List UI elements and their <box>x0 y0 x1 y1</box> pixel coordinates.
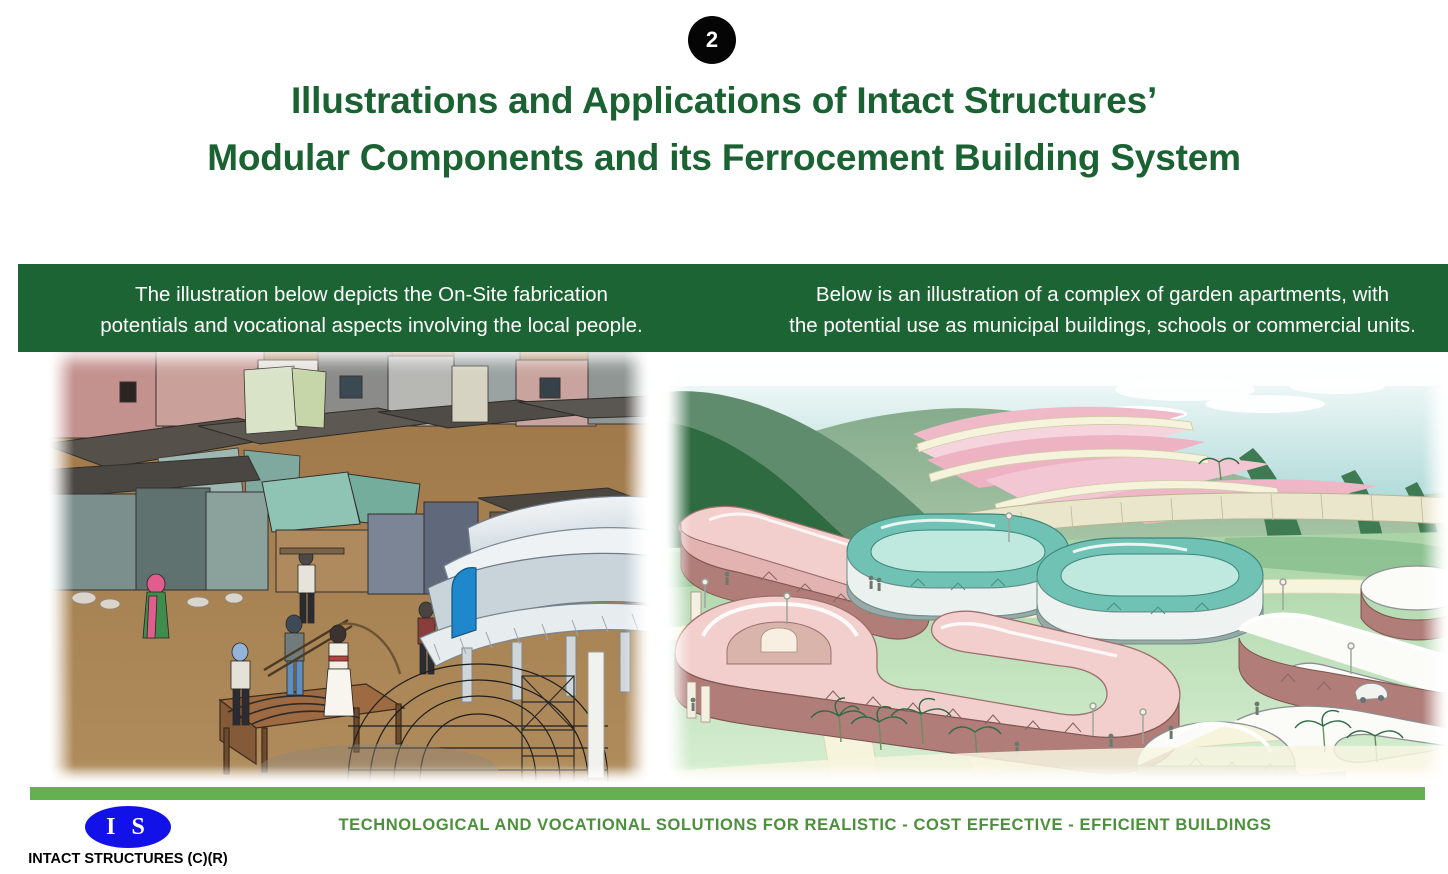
apartment-block-teal-2 <box>1037 538 1263 644</box>
footer-tagline: TECHNOLOGICAL AND VOCATIONAL SOLUTIONS F… <box>250 816 1360 835</box>
title-line-1: Illustrations and Applications of Intact… <box>0 72 1448 129</box>
caption-left-line-1: The illustration below depicts the On-Si… <box>32 280 711 311</box>
footer-divider-rule <box>30 787 1425 800</box>
logo-initials: I S <box>106 814 150 841</box>
logo-caption: INTACT STRUCTURES (C)(R) <box>18 851 238 867</box>
apartment-block-teal-1 <box>847 514 1069 620</box>
onsite-fabrication-illustration <box>48 352 650 784</box>
page-title: Illustrations and Applications of Intact… <box>0 72 1448 187</box>
illustration-left <box>48 352 650 784</box>
slide-number-text: 2 <box>706 27 718 53</box>
brand-logo: I S INTACT STRUCTURES (C)(R) <box>18 806 238 867</box>
title-line-2: Modular Components and its Ferrocement B… <box>0 129 1448 186</box>
caption-right: Below is an illustration of a complex of… <box>739 264 1448 352</box>
caption-right-line-1: Below is an illustration of a complex of… <box>763 280 1442 311</box>
logo-mark: I S <box>85 806 171 848</box>
caption-right-line-2: the potential use as municipal buildings… <box>763 311 1442 342</box>
figure-woman <box>143 574 169 638</box>
caption-band: The illustration below depicts the On-Si… <box>18 264 1448 352</box>
caption-left: The illustration below depicts the On-Si… <box>18 264 739 352</box>
slide-number-badge: 2 <box>688 16 736 64</box>
illustration-right <box>665 352 1448 784</box>
garden-apartments-illustration <box>665 352 1448 784</box>
caption-left-line-2: potentials and vocational aspects involv… <box>32 311 711 342</box>
